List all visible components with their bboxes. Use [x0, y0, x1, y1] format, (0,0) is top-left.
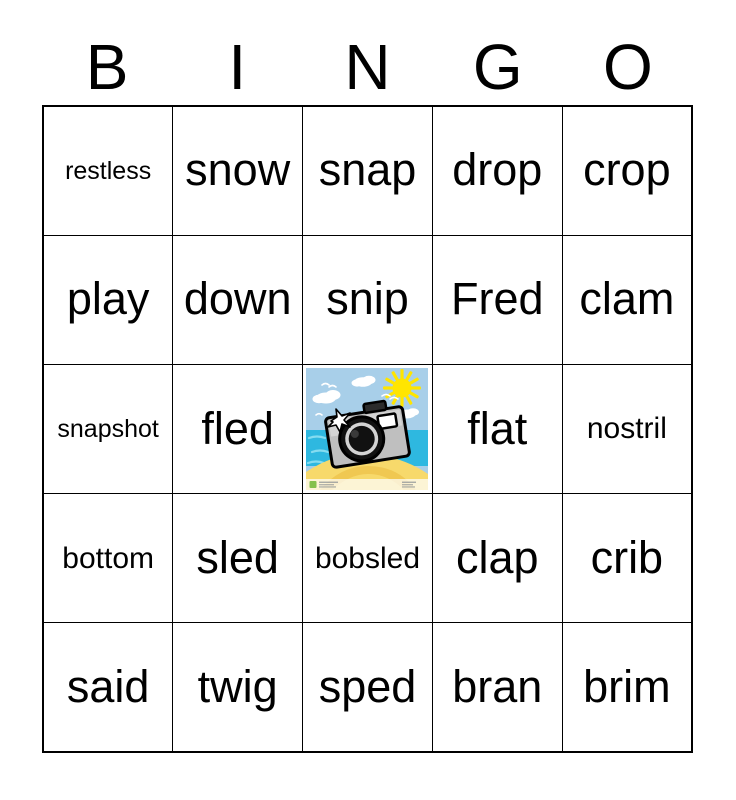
watermark-strip — [306, 479, 428, 490]
bingo-cell-label: clam — [565, 276, 689, 323]
bingo-cell-n5[interactable]: sped — [303, 623, 433, 752]
header-letter-b: B — [42, 28, 172, 105]
camera-beach-illustration — [306, 368, 428, 490]
bingo-cell-label: sled — [175, 535, 300, 582]
bingo-cell-label: snap — [305, 147, 430, 194]
bingo-grid-body: restless snow snap drop crop play down s… — [43, 106, 692, 752]
bingo-cell-b1[interactable]: restless — [43, 106, 173, 235]
bingo-cell-label: flat — [435, 406, 560, 453]
bingo-cell-b2[interactable]: play — [43, 235, 173, 364]
bingo-cell-o2[interactable]: clam — [562, 235, 692, 364]
bingo-cell-n2[interactable]: snip — [303, 235, 433, 364]
bingo-cell-label: fled — [175, 406, 300, 453]
bingo-card: B I N G O restless snow snap drop crop p… — [0, 0, 736, 800]
bingo-cell-n1[interactable]: snap — [303, 106, 433, 235]
bingo-cell-g4[interactable]: clap — [432, 494, 562, 623]
bingo-cell-o5[interactable]: brim — [562, 623, 692, 752]
bingo-cell-g5[interactable]: bran — [432, 623, 562, 752]
bingo-cell-b4[interactable]: bottom — [43, 494, 173, 623]
bingo-grid: restless snow snap drop crop play down s… — [42, 105, 693, 753]
bingo-row: bottom sled bobsled clap crib — [43, 494, 692, 623]
bingo-cell-label: snip — [305, 276, 430, 323]
bingo-row: play down snip Fred clam — [43, 235, 692, 364]
bingo-cell-label: Fred — [435, 276, 560, 323]
bingo-cell-label: said — [46, 664, 170, 711]
bingo-header-letters: B I N G O — [42, 28, 693, 105]
bingo-row: said twig sped bran brim — [43, 623, 692, 752]
bingo-cell-label: down — [175, 276, 300, 323]
bingo-row: restless snow snap drop crop — [43, 106, 692, 235]
bingo-cell-label: brim — [565, 664, 689, 711]
header-letter-i: I — [172, 28, 302, 105]
bingo-cell-label: drop — [435, 147, 560, 194]
bingo-cell-label: bottom — [46, 543, 170, 574]
header-letter-n: N — [302, 28, 432, 105]
bingo-cell-n3-free-space[interactable] — [303, 364, 433, 493]
bingo-cell-label: snow — [175, 147, 300, 194]
bingo-cell-g3[interactable]: flat — [432, 364, 562, 493]
bingo-cell-b3[interactable]: snapshot — [43, 364, 173, 493]
bingo-cell-i3[interactable]: fled — [173, 364, 303, 493]
bingo-cell-label: crib — [565, 535, 689, 582]
bingo-cell-i5[interactable]: twig — [173, 623, 303, 752]
bingo-cell-g2[interactable]: Fred — [432, 235, 562, 364]
bingo-cell-i4[interactable]: sled — [173, 494, 303, 623]
camera-beach-image — [306, 368, 428, 490]
bingo-cell-o1[interactable]: crop — [562, 106, 692, 235]
bingo-cell-label: restless — [46, 158, 170, 184]
bingo-cell-o4[interactable]: crib — [562, 494, 692, 623]
bingo-cell-label: sped — [305, 664, 430, 711]
bingo-cell-label: play — [46, 276, 170, 323]
bingo-cell-o3[interactable]: nostril — [562, 364, 692, 493]
header-letter-g: G — [433, 28, 563, 105]
bingo-cell-i1[interactable]: snow — [173, 106, 303, 235]
bingo-cell-label: bobsled — [305, 543, 430, 574]
bingo-cell-b5[interactable]: said — [43, 623, 173, 752]
bingo-cell-i2[interactable]: down — [173, 235, 303, 364]
bingo-cell-g1[interactable]: drop — [432, 106, 562, 235]
bingo-cell-label: bran — [435, 664, 560, 711]
bingo-cell-label: twig — [175, 664, 300, 711]
bingo-row: snapshot fled — [43, 364, 692, 493]
bingo-cell-label: snapshot — [46, 416, 170, 442]
header-letter-o: O — [563, 28, 693, 105]
bingo-cell-label: clap — [435, 535, 560, 582]
bingo-cell-label: crop — [565, 147, 689, 194]
bingo-cell-n4[interactable]: bobsled — [303, 494, 433, 623]
bingo-cell-label: nostril — [565, 413, 689, 444]
